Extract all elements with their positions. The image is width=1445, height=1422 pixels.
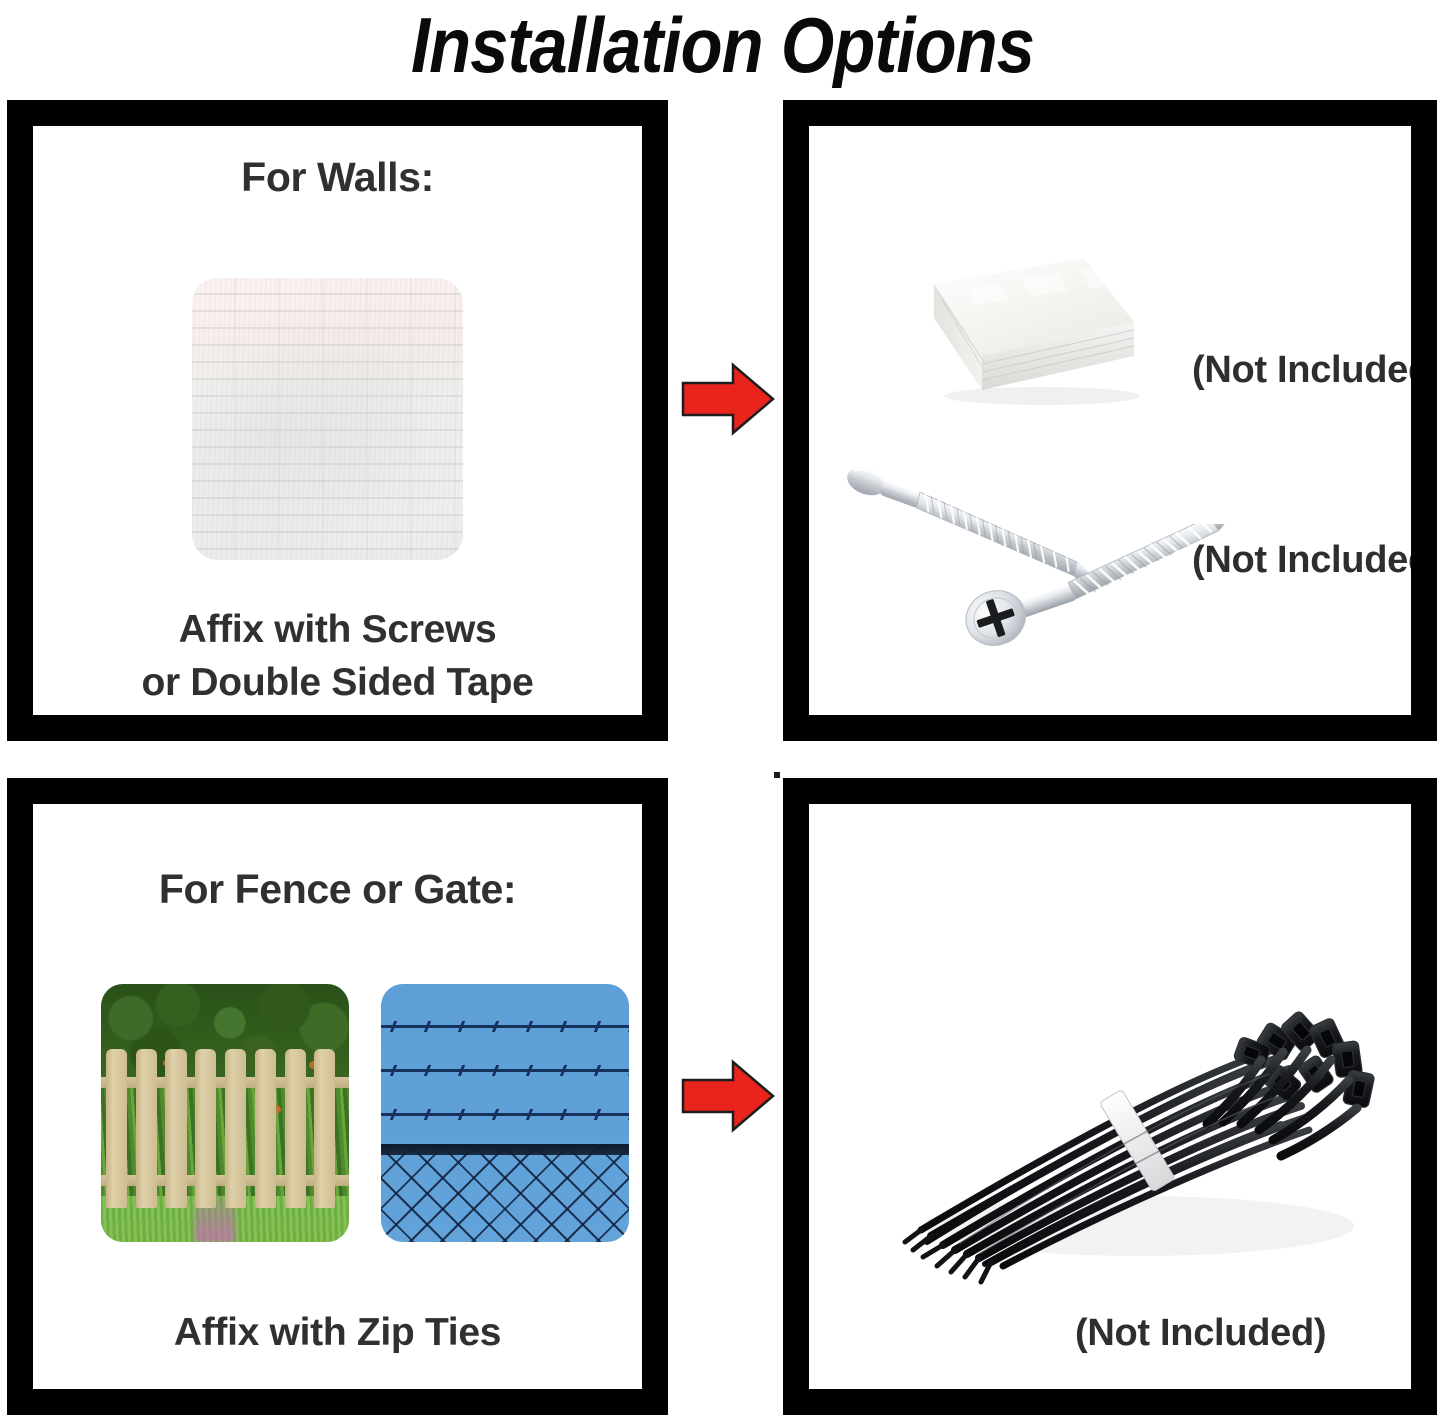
page-title: Installation Options <box>87 2 1359 88</box>
chain-link-mesh <box>381 1147 629 1242</box>
fence-picket <box>225 1049 246 1209</box>
panel-for-fence-or-gate: For Fence or Gate: <box>7 778 668 1415</box>
panel-for-walls-inner: For Walls: Affix with Screws or Double S… <box>33 126 642 715</box>
black-zip-tie-bundle-image <box>869 924 1389 1314</box>
image-artifact-dot <box>774 772 780 778</box>
panel-zip-ties: (Not Included) <box>783 778 1437 1415</box>
panel-for-walls: For Walls: Affix with Screws or Double S… <box>7 100 668 741</box>
tape-not-included-label: (Not Included) <box>1192 349 1411 392</box>
for-fence-caption: Affix with Zip Ties <box>33 1311 642 1355</box>
for-fence-heading: For Fence or Gate: <box>33 866 642 913</box>
chain-link-barbed-wire-fence-photo <box>381 984 629 1242</box>
installation-options-infographic: Installation Options For Walls: Affix wi… <box>0 0 1445 1422</box>
panel-wall-hardware-inner: (Not Included) <box>809 126 1411 715</box>
panel-wall-hardware: (Not Included) <box>783 100 1437 741</box>
fence-picket <box>195 1049 216 1209</box>
for-walls-caption-line-1: Affix with Screws <box>33 608 642 652</box>
screws-not-included-label: (Not Included) <box>1192 539 1411 582</box>
for-walls-heading: For Walls: <box>33 154 642 201</box>
for-walls-caption-line-2: or Double Sided Tape <box>33 661 642 705</box>
fence-picket <box>314 1049 335 1209</box>
fence-picket <box>165 1049 186 1209</box>
panel-for-fence-or-gate-inner: For Fence or Gate: <box>33 804 642 1389</box>
panel-zip-ties-inner: (Not Included) <box>809 804 1411 1389</box>
barbed-wire-strand <box>381 1113 629 1116</box>
fence-picket <box>285 1049 306 1209</box>
red-right-arrow-top <box>681 361 775 437</box>
fence-picket <box>255 1049 276 1209</box>
red-right-arrow-bottom <box>681 1058 775 1134</box>
zip-ties-not-included-label: (Not Included) <box>1075 1312 1326 1355</box>
fence-picket <box>136 1049 157 1209</box>
barbed-wire-strand <box>381 1069 629 1072</box>
barbed-wire-strand <box>381 1025 629 1028</box>
double-sided-tape-stack-image <box>872 244 1158 434</box>
fence-picket <box>106 1049 127 1209</box>
brick-texture-noise <box>192 278 463 560</box>
wooden-picket-fence-photo <box>101 984 349 1242</box>
white-brick-wall-swatch-image <box>192 278 463 560</box>
